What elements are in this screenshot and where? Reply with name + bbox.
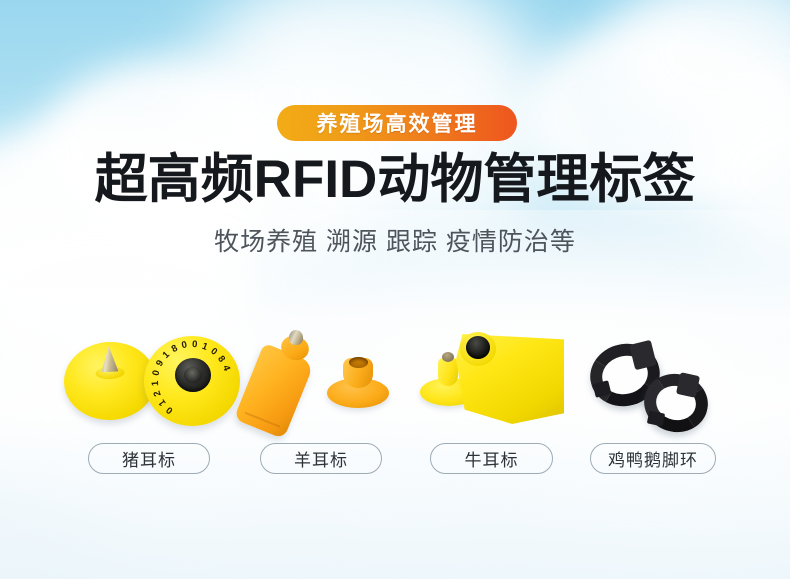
- product-captions: 猪耳标 羊耳标 牛耳标 鸡鸭鹅脚环: [0, 443, 790, 477]
- cow-tag-button-stem: [438, 358, 458, 386]
- sheep-tag-button-hole: [349, 357, 368, 368]
- pig-tag-metal-spike: [100, 346, 118, 373]
- pig-tag-digit: 9: [154, 358, 166, 368]
- caption-pill-poultry[interactable]: 鸡鸭鹅脚环: [590, 443, 716, 474]
- cow-tag-metal-pin: [442, 352, 454, 362]
- caption-label: 牛耳标: [465, 446, 519, 471]
- pig-tag-digit: 1: [150, 380, 161, 386]
- page-subtitle: 牧场养殖 溯源 跟踪 疫情防治等: [0, 226, 790, 258]
- pig-tag-front-disc: 01210918001084: [144, 336, 240, 426]
- product-pig-ear-tag: 01210918001084: [62, 330, 242, 450]
- pig-tag-digit: 1: [200, 341, 209, 353]
- pig-tag-digit: 0: [181, 339, 188, 351]
- pig-tag-digit: 2: [152, 389, 164, 398]
- pig-tag-digit: 8: [215, 354, 227, 365]
- product-row: 01210918001084: [0, 325, 790, 450]
- caption-pill-cow[interactable]: 牛耳标: [430, 443, 553, 474]
- caption-pill-pig[interactable]: 猪耳标: [88, 443, 210, 474]
- banner-text-block: 养殖场高效管理 超高频RFID动物管理标签 牧场养殖 溯源 跟踪 疫情防治等: [0, 0, 790, 579]
- pig-tag-digit: 0: [164, 404, 175, 416]
- pig-tag-digit: 0: [150, 369, 162, 377]
- caption-label: 羊耳标: [294, 446, 348, 471]
- pig-tag-digit: 8: [170, 343, 180, 355]
- leg-ring-small-tab: [647, 410, 665, 426]
- product-sheep-ear-tag: [245, 330, 400, 450]
- caption-pill-sheep[interactable]: 羊耳标: [260, 443, 382, 474]
- product-poultry-leg-ring: [586, 330, 726, 450]
- page-title: 超高频RFID动物管理标签: [0, 149, 790, 211]
- pig-tag-digit: 4: [220, 364, 232, 373]
- pig-tag-digit: 0: [192, 339, 198, 350]
- cow-tag-hole: [466, 336, 490, 359]
- pig-tag-digit: 1: [161, 349, 172, 361]
- caption-label: 鸡鸭鹅脚环: [608, 446, 698, 471]
- product-cow-ear-tag: [418, 330, 578, 450]
- pig-tag-rfid-chip: [175, 358, 211, 392]
- product-banner: 养殖场高效管理 超高频RFID动物管理标签 牧场养殖 溯源 跟踪 疫情防治等 0…: [0, 0, 790, 579]
- caption-label: 猪耳标: [122, 446, 176, 471]
- pig-tag-digit: 0: [208, 346, 219, 358]
- sheep-tag-metal-pin: [289, 330, 303, 345]
- pig-tag-digit: 1: [157, 397, 169, 408]
- tagline-badge: 养殖场高效管理: [277, 105, 517, 141]
